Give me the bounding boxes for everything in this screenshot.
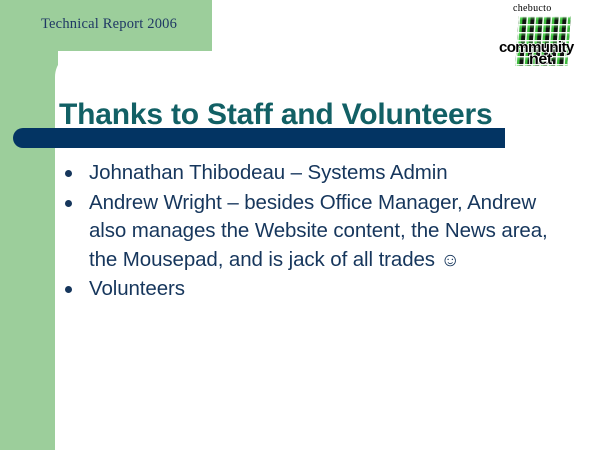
list-item: Andrew Wright – besides Office Manager, …: [60, 189, 560, 275]
slide-canvas: Technical Report 2006 chebucto community…: [0, 0, 600, 450]
chebucto-community-net-logo: chebucto community net: [499, 3, 591, 69]
logo-text-chebucto: chebucto: [513, 3, 552, 14]
bullet-point-icon: [65, 170, 72, 177]
list-item-text: Andrew Wright – besides Office Manager, …: [89, 191, 548, 271]
list-item-text: Volunteers: [89, 277, 185, 300]
report-header-label: Technical Report 2006: [41, 16, 177, 33]
list-item: Volunteers: [60, 275, 560, 304]
list-item: Johnathan Thibodeau – Systems Admin: [60, 159, 560, 188]
title-underline-bar: [13, 128, 505, 148]
smiley-face-icon: ☺: [441, 250, 460, 271]
bullet-list: Johnathan Thibodeau – Systems Admin Andr…: [60, 159, 560, 305]
logo-text-net: net: [529, 51, 552, 69]
bullet-point-icon: [65, 286, 72, 293]
bullet-point-icon: [65, 200, 72, 207]
green-sidebar-band: [0, 0, 58, 450]
list-item-text: Johnathan Thibodeau – Systems Admin: [89, 161, 448, 184]
slide-title: Thanks to Staff and Volunteers: [59, 98, 493, 132]
